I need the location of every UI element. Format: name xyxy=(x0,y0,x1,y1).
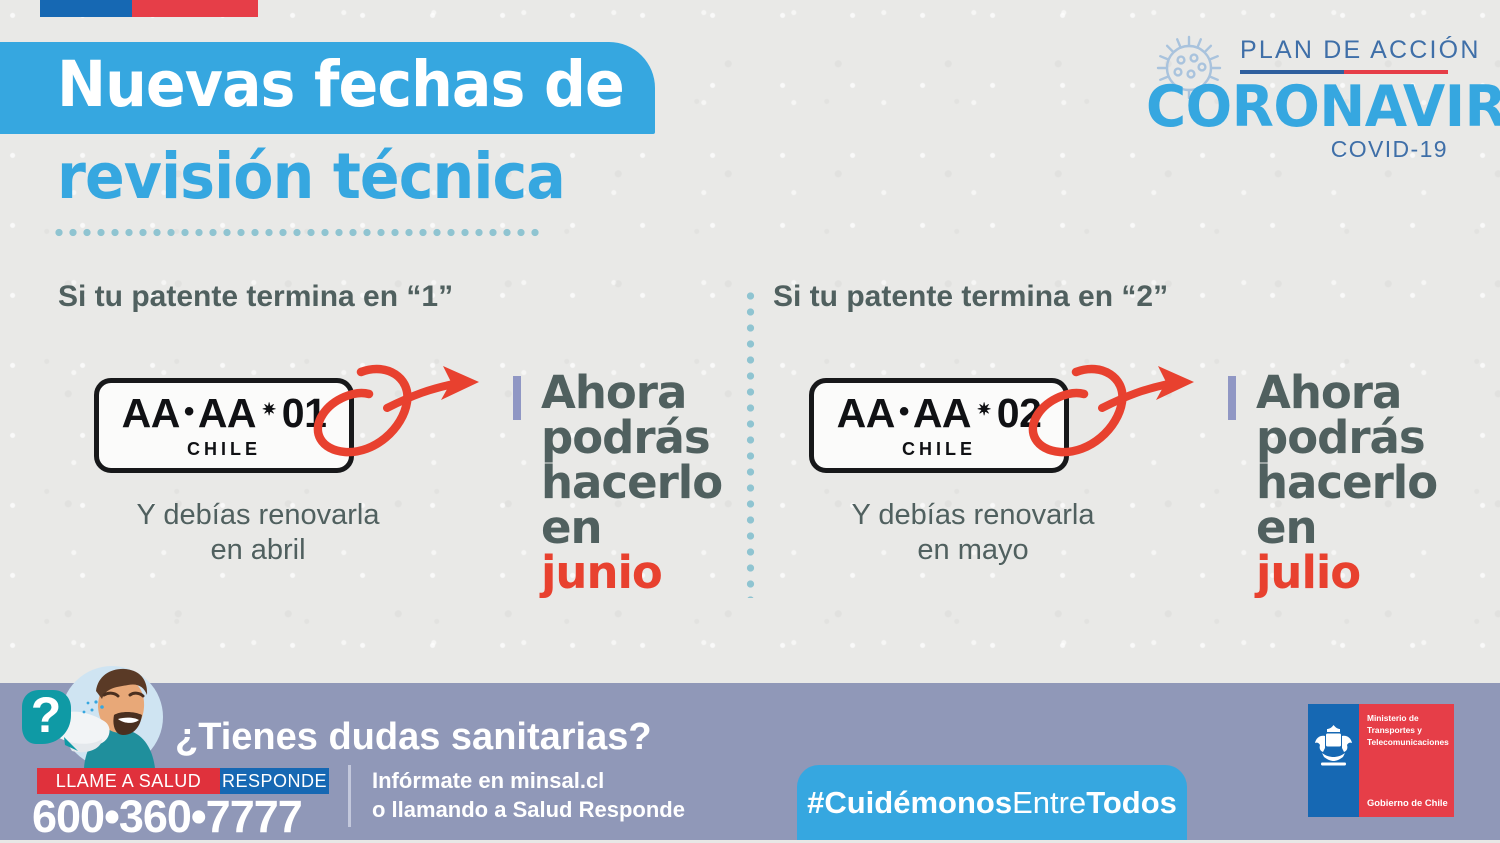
column-subtext: Y debías renovarla en abril xyxy=(58,498,458,569)
column-plate-ending-2: Si tu patente termina en “2” AA • AA ✷ 0… xyxy=(773,280,1473,610)
ministry-name-line3: Telecomunicaciones xyxy=(1367,737,1450,749)
subtext-line2: en mayo xyxy=(773,533,1173,568)
footer-info: Infórmate en minsal.cl o llamando a Salu… xyxy=(372,767,685,824)
result-line3: hacerlo en xyxy=(541,460,763,550)
horizontal-dotted-divider xyxy=(52,228,544,237)
result-month: julio xyxy=(1256,550,1478,595)
plate-group1: AA xyxy=(122,393,180,434)
column-heading: Si tu patente termina en “2” xyxy=(773,280,1473,314)
result-month: junio xyxy=(541,550,763,595)
government-label: Gobierno de Chile xyxy=(1367,797,1448,808)
result-accent-bar xyxy=(1228,376,1236,420)
result-line3: hacerlo en xyxy=(1256,460,1478,550)
plate-number: 01 xyxy=(282,393,327,434)
question-mark-glyph: ? xyxy=(31,687,62,743)
chile-flag-bar xyxy=(40,0,258,17)
result-line2: podrás xyxy=(541,415,763,460)
license-plate: AA • AA ✷ 02 CHILE xyxy=(809,378,1069,473)
plate-group1: AA xyxy=(837,393,895,434)
footer-bar: ? ¿Tienes dudas sanitarias? LLAME A SALU… xyxy=(0,683,1500,840)
column-subtext: Y debías renovarla en mayo xyxy=(773,498,1173,569)
footer-info-line2: o llamando a Salud Responde xyxy=(372,796,685,825)
plan-de-accion-label: PLAN DE ACCIÓN xyxy=(1240,36,1481,65)
plate-group2: AA xyxy=(198,393,256,434)
coronavirus-wordmark: CORONAVIRUS xyxy=(1146,74,1500,140)
plate-star-icon: ✷ xyxy=(977,401,991,418)
plate-number-row: AA • AA ✷ 02 xyxy=(837,393,1042,434)
chile-coat-of-arms-icon xyxy=(1313,723,1354,767)
license-plate: AA • AA ✷ 01 CHILE xyxy=(94,378,354,473)
result-line2: podrás xyxy=(1256,415,1478,460)
column-plate-ending-1: Si tu patente termina en “1” AA • AA ✷ 0… xyxy=(58,280,758,610)
infographic-canvas: Nuevas fechas de revisión técnica xyxy=(0,0,1500,840)
plate-group2: AA xyxy=(913,393,971,434)
ministry-name-line1: Ministerio de xyxy=(1367,713,1450,725)
result-accent-bar xyxy=(513,376,521,420)
hashtag-bold-2: Todos xyxy=(1086,785,1177,821)
coronavirus-plan-logo: PLAN DE ACCIÓN CORONAVIRUS COVID-19 xyxy=(1148,30,1448,165)
plate-separator-dot-icon: • xyxy=(899,397,909,427)
hashtag-bold-1: #Cuidémonos xyxy=(807,785,1012,821)
ministry-logo: Ministerio de Transportes y Telecomunica… xyxy=(1308,704,1454,817)
ministry-name-line2: Transportes y xyxy=(1367,725,1450,737)
subtext-line2: en abril xyxy=(58,533,458,568)
column-result: Ahora podrás hacerlo en julio xyxy=(1228,370,1478,595)
ministry-logo-blue-panel xyxy=(1308,704,1359,817)
result-line1: Ahora xyxy=(541,370,763,415)
column-heading: Si tu patente termina en “1” xyxy=(58,280,758,314)
footer-headline: ¿Tienes dudas sanitarias? xyxy=(175,716,652,759)
column-result: Ahora podrás hacerlo en junio xyxy=(513,370,763,595)
subtext-line1: Y debías renovarla xyxy=(773,498,1173,533)
flag-bar-blue xyxy=(40,0,132,17)
plate-country-label: CHILE xyxy=(187,439,261,460)
page-title-line2: revisión técnica xyxy=(57,140,708,213)
result-text: Ahora podrás hacerlo en julio xyxy=(1256,370,1478,595)
subtext-line1: Y debías renovarla xyxy=(58,498,458,533)
sneezing-man-icon: ? xyxy=(22,645,172,770)
ministry-name: Ministerio de Transportes y Telecomunica… xyxy=(1367,713,1450,749)
hashtag-light: Entre xyxy=(1012,785,1086,821)
footer-vertical-rule xyxy=(348,765,351,827)
flag-bar-red xyxy=(132,0,258,17)
covid-19-label: COVID-19 xyxy=(1331,136,1448,163)
plate-number-row: AA • AA ✷ 01 xyxy=(122,393,327,434)
plate-separator-dot-icon: • xyxy=(184,397,194,427)
phone-number[interactable]: 600•360•7777 xyxy=(32,791,342,843)
page-title-line1: Nuevas fechas de xyxy=(57,48,634,121)
plate-country-label: CHILE xyxy=(902,439,976,460)
plate-number: 02 xyxy=(997,393,1042,434)
hashtag-pill: #CuidémonosEntreTodos xyxy=(797,765,1187,840)
footer-info-line1: Infórmate en minsal.cl xyxy=(372,767,685,796)
plate-star-icon: ✷ xyxy=(262,401,276,418)
ministry-logo-red-panel: Ministerio de Transportes y Telecomunica… xyxy=(1359,704,1454,817)
result-line1: Ahora xyxy=(1256,370,1478,415)
result-text: Ahora podrás hacerlo en junio xyxy=(541,370,763,595)
